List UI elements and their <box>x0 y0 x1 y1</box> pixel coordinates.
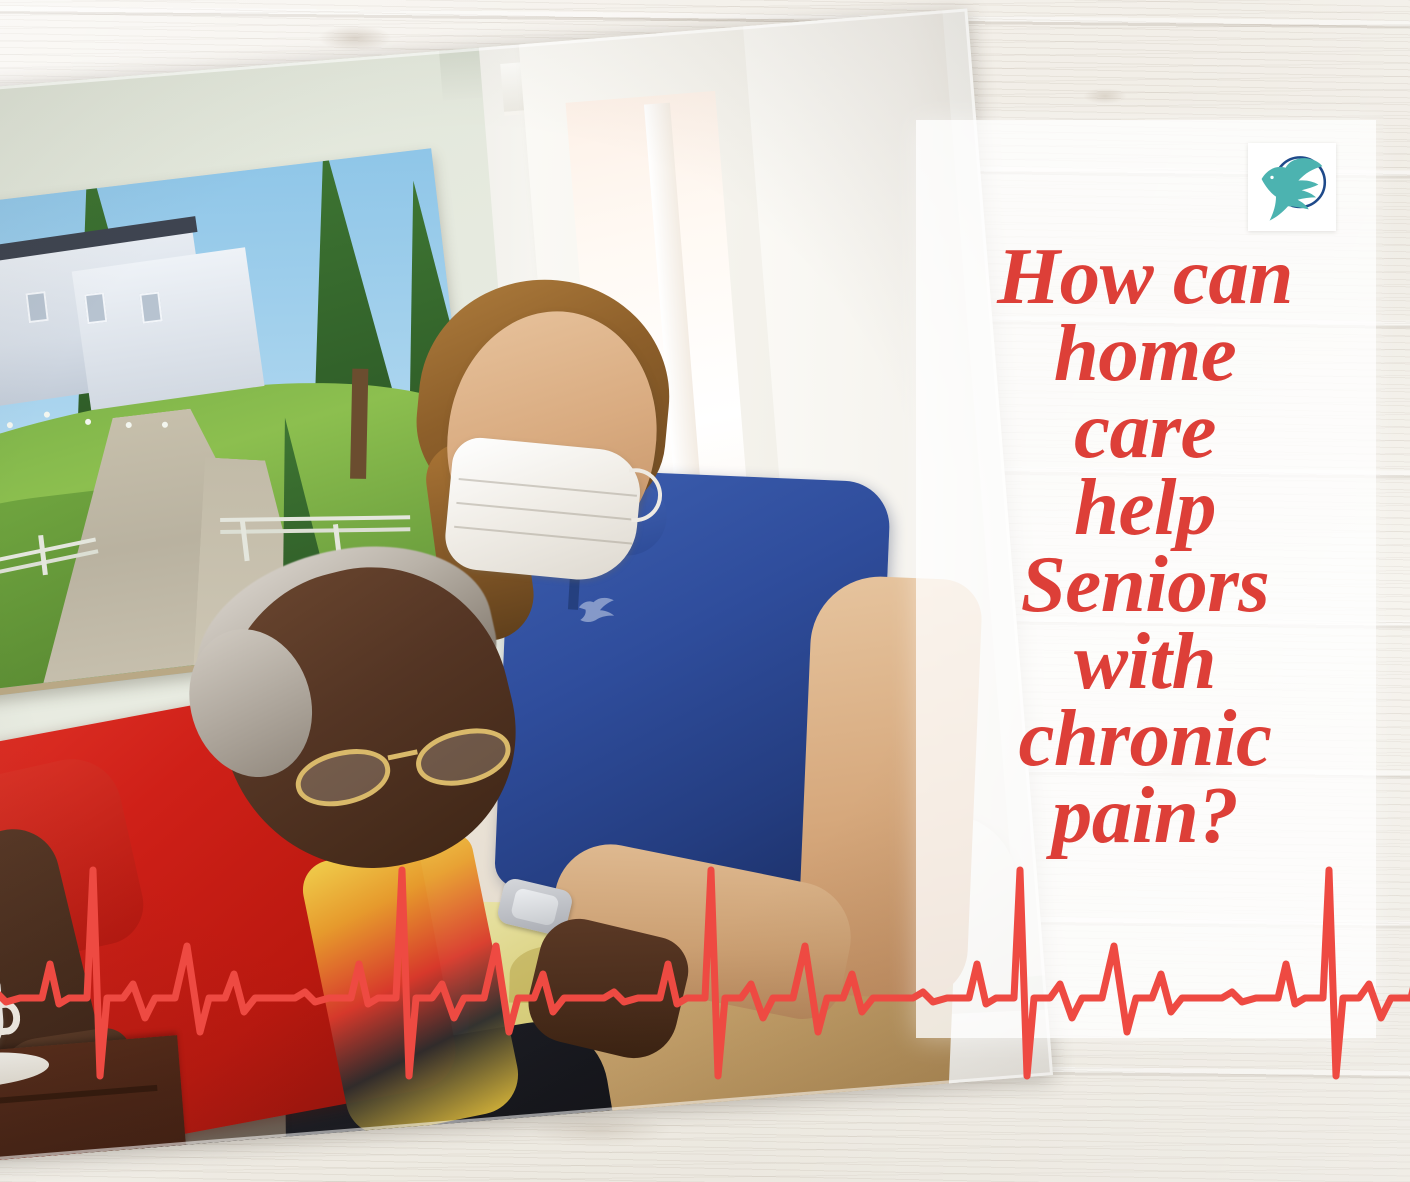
painting-house-wing <box>72 247 265 410</box>
painting-window <box>84 292 107 324</box>
face-mask <box>442 435 644 584</box>
dove-bird-in-circle-icon <box>1252 147 1332 227</box>
poster-canvas: How can home care help Seniors with chro… <box>0 0 1410 1182</box>
headline-line-3: care <box>930 392 1360 469</box>
polo-bird-logo-icon <box>571 585 621 631</box>
page-title: How can home care help Seniors with chro… <box>930 238 1360 854</box>
headline-line-5: Seniors <box>930 546 1360 623</box>
brand-logo[interactable] <box>1248 143 1336 231</box>
headline-line-7: chronic <box>930 700 1360 777</box>
painting-tree-trunk <box>350 369 368 479</box>
headline-line-6: with <box>930 623 1360 700</box>
heartbeat-ecg-line <box>0 880 1410 1110</box>
headline-line-1: How can <box>930 238 1360 315</box>
headline-line-4: help <box>930 469 1360 546</box>
headline-line-2: home <box>930 315 1360 392</box>
painting-window <box>25 291 48 323</box>
headline-line-8: pain? <box>930 777 1360 854</box>
painting-window <box>139 292 162 324</box>
